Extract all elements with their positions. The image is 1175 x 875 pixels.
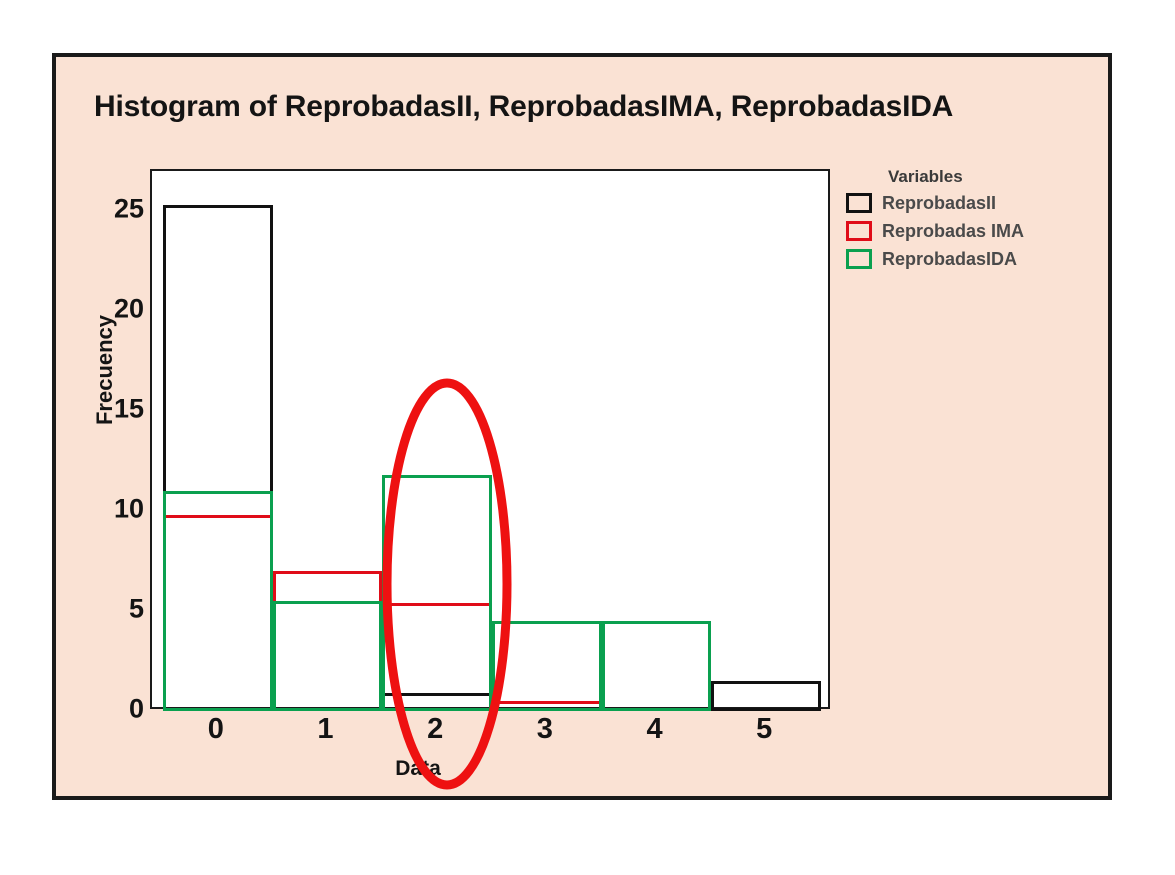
- x-axis-title: Data: [395, 757, 441, 781]
- y-axis-tick-10: 10: [92, 494, 144, 525]
- legend: Variables ReprobadasIIReprobadas IMARepr…: [846, 167, 1096, 274]
- legend-swatch-icon: [846, 221, 872, 241]
- x-axis-tick-0: 0: [208, 713, 224, 746]
- y-axis-tick-5: 5: [92, 594, 144, 625]
- legend-swatch-icon: [846, 193, 872, 213]
- legend-item-reprobadas-ima: Reprobadas IMA: [846, 218, 1096, 244]
- y-axis-tick-20: 20: [92, 294, 144, 325]
- y-axis-tick-15: 15: [92, 394, 144, 425]
- plot-area: [150, 169, 830, 709]
- legend-label: ReprobadasIDA: [882, 249, 1017, 270]
- bars-layer: [152, 171, 828, 707]
- y-axis-tick-25: 25: [92, 194, 144, 225]
- legend-swatch-icon: [846, 249, 872, 269]
- y-axis-tick-labels: 0510152025: [86, 169, 144, 709]
- bar-reprobadasida-bin-4: [602, 621, 712, 711]
- x-axis-tick-3: 3: [537, 713, 553, 746]
- x-axis-tick-5: 5: [756, 713, 772, 746]
- legend-item-reprobadasida: ReprobadasIDA: [846, 246, 1096, 272]
- bar-reprobadasida-bin-0: [163, 491, 273, 711]
- x-axis-tick-4: 4: [646, 713, 662, 746]
- bar-reprobadasida-bin-1: [273, 601, 383, 711]
- x-axis-tick-1: 1: [317, 713, 333, 746]
- bar-reprobadasii-bin-5: [711, 681, 821, 711]
- screenshot-stage: Histogram of ReprobadasII, ReprobadasIMA…: [0, 0, 1175, 875]
- chart-title: Histogram of ReprobadasII, ReprobadasIMA…: [94, 90, 1094, 124]
- y-axis-tick-0: 0: [92, 694, 144, 725]
- chart-card: Histogram of ReprobadasII, ReprobadasIMA…: [52, 53, 1112, 800]
- legend-item-reprobadasii: ReprobadasII: [846, 190, 1096, 216]
- legend-label: Reprobadas IMA: [882, 221, 1024, 242]
- bar-reprobadasida-bin-3: [492, 621, 602, 711]
- bar-reprobadasida-bin-2: [382, 475, 492, 711]
- x-axis-tick-labels: 012345: [150, 713, 830, 769]
- legend-rows: ReprobadasIIReprobadas IMAReprobadasIDA: [846, 190, 1096, 272]
- x-axis-tick-2: 2: [427, 713, 443, 746]
- legend-title: Variables: [888, 167, 1096, 187]
- legend-label: ReprobadasII: [882, 193, 996, 214]
